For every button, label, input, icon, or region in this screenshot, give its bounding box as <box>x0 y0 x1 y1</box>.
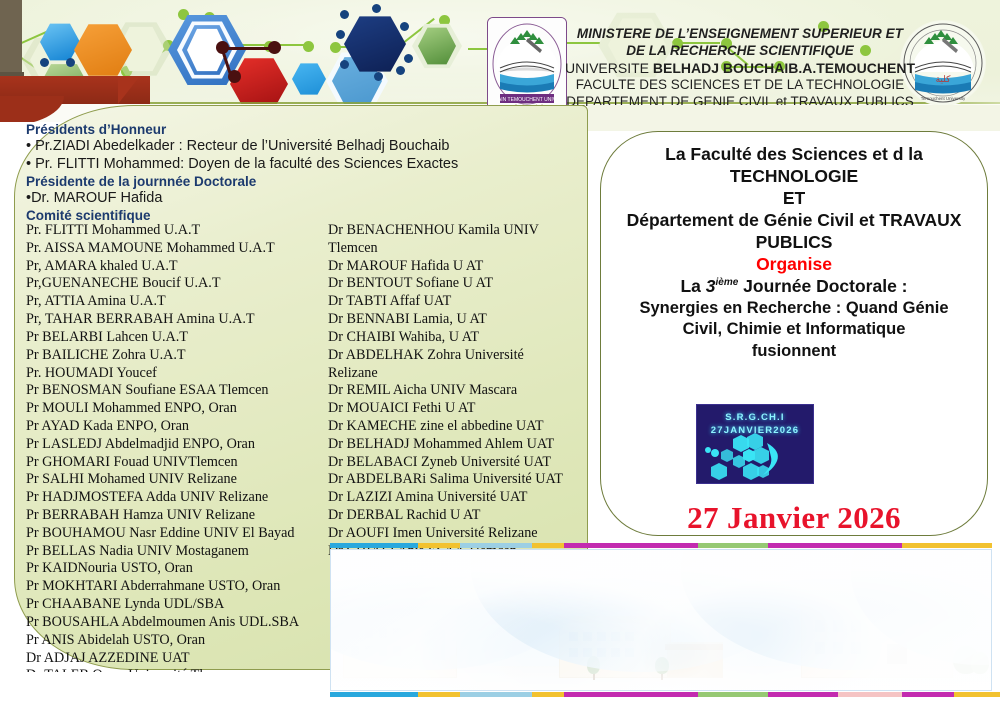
committee-member: Pr,GUENANECHE Boucif U.A.T <box>26 275 326 293</box>
stripe-segment <box>418 543 460 548</box>
committee-member: Pr BAILICHE Zohra U.A.T <box>26 347 326 365</box>
stripe-segment <box>330 543 418 548</box>
committee-member: Pr BOUHAMOU Nasr Eddine UNIV El Bayad <box>26 525 326 543</box>
committee-member: Pr HADJMOSTEFA Adda UNIV Relizane <box>26 489 326 507</box>
corner-brown-bar <box>0 0 22 82</box>
stripe-segment <box>532 543 564 548</box>
stripe-segment <box>564 543 698 548</box>
theme-line-1: Synergies en Recherche : Quand Génie <box>615 298 973 319</box>
committee-member: Dr LAZIZI Amina Université UAT <box>328 489 576 507</box>
stripe-segment <box>418 692 460 697</box>
event-title: La 3ième Journée Doctorale : <box>615 276 973 298</box>
committee-member: Dr BENNABI Lamia, U AT <box>328 311 576 329</box>
committee-member: Pr BENOSMAN Soufiane ESAA Tlemcen <box>26 382 326 400</box>
srgchi-molecule-badge: S.R.G.CH.I 27JANVIER2026 <box>696 404 814 484</box>
committee-member: Pr BELLAS Nadia UNIV Mostaganem <box>26 543 326 561</box>
committee-member: Pr. HOUMADI Youcef <box>26 365 326 383</box>
theme-line-3: fusionnent <box>615 341 973 362</box>
decorative-stripe-top <box>330 543 992 548</box>
stripe-segment <box>698 543 768 548</box>
stripe-segment <box>838 692 902 697</box>
committee-member: Pr ANIS Abidelah USTO, Oran <box>26 632 326 650</box>
committee-member: Dr MOUAICI Fethi U AT <box>328 400 576 418</box>
honour-presidents-list: • Pr.ZIADI Abedelkader : Recteur de l’Un… <box>26 138 546 173</box>
committee-member: Dr MAROUF Hafida U AT <box>328 258 576 276</box>
svg-text:Temouchent University: Temouchent University <box>921 96 966 101</box>
honour-president-item: • Pr. FLITTI Mohammed: Doyen de la facul… <box>26 156 546 173</box>
photo-vignette <box>331 550 991 690</box>
committee-member: Pr KAIDNouria USTO, Oran <box>26 560 326 578</box>
committee-member: Pr CHAABANE Lynda UDL/SBA <box>26 596 326 614</box>
university-name: BELHADJ BOUCHAIB.A.TEMOUCHENT <box>653 60 915 76</box>
committee-member: Pr, ATTIA Amina U.A.T <box>26 293 326 311</box>
stripe-segment <box>902 692 954 697</box>
committee-member: Dr KAMECHE zine el abbedine UAT <box>328 418 576 436</box>
doctoral-day-president-title: Présidente de la journnée Doctorale <box>26 174 546 189</box>
committee-member: Pr BELARBI Lahcen U.A.T <box>26 329 326 347</box>
header-right-fill <box>588 105 1000 131</box>
stripe-segment <box>460 543 532 548</box>
stripe-segment <box>532 692 564 697</box>
committee-member: Pr BERRABAH Hamza UNIV Relizane <box>26 507 326 525</box>
committee-member: Dr REMIL Aicha UNIV Mascara <box>328 382 576 400</box>
decorative-stripe-bottom <box>330 692 992 697</box>
committee-member: Dr CHAIBI Wahiba, U AT <box>328 329 576 347</box>
committee-member: Pr SALHI Mohamed UNIV Relizane <box>26 471 326 489</box>
doctoral-president-item: •Dr. MAROUF Hafida <box>26 190 546 207</box>
header-institution-text: MINISTERE DE L’ENSEIGNEMENT SUPERIEUR ET… <box>560 26 920 111</box>
committee-member: Pr BOUSAHLA Abdelmoumen Anis UDL.SBA <box>26 614 326 632</box>
committee-member: Dr TABTI Affaf UAT <box>328 293 576 311</box>
event-date: 27 Janvier 2026 <box>600 500 988 536</box>
honour-president-item: • Pr.ZIADI Abedelkader : Recteur de l’Un… <box>26 138 546 155</box>
university-prefix: UNIVERSITE <box>565 60 653 76</box>
announcement-line-2: TECHNOLOGIE <box>615 166 973 188</box>
organise-label: Organise <box>615 253 973 276</box>
committee-member: Dr AOUFI Imen Université Relizane <box>328 525 576 543</box>
campus-photo-strip <box>330 549 992 691</box>
committee-member: Pr, AMARA khaled U.A.T <box>26 258 326 276</box>
committee-member: Pr GHOMARI Fouad UNIVTlemcen <box>26 454 326 472</box>
bottom-left-filler <box>0 672 330 707</box>
stripe-segment <box>768 692 838 697</box>
stripe-segment <box>460 692 532 697</box>
committee-member: Dr ABDELBARi Salima Université UAT <box>328 471 576 489</box>
badge-hexagon-graphic <box>697 429 813 483</box>
corner-red-tip <box>118 76 140 104</box>
stripe-segment <box>330 692 418 697</box>
stripe-segment <box>954 692 1000 697</box>
committee-member: Dr BENTOUT Sofiane U AT <box>328 275 576 293</box>
committee-member: Dr DERBAL Rachid U AT <box>328 507 576 525</box>
university-line: UNIVERSITE BELHADJ BOUCHAIB.A.TEMOUCHENT <box>560 60 920 78</box>
committee-member: Dr BENACHENHOU Kamila UNIV Tlemcen <box>328 222 576 258</box>
committee-column-2: Dr BENACHENHOU Kamila UNIV TlemcenDr MAR… <box>328 222 576 560</box>
committee-member: Pr LASLEDJ Abdelmadjid ENPO, Oran <box>26 436 326 454</box>
stripe-segment <box>902 543 992 548</box>
logo-left-graphic: AIN TEMOUCHENT UNIV Belhadj Bouchaib <box>488 18 566 110</box>
committee-member: Dr ABDELHAK Zohra Université Relizane <box>328 347 576 383</box>
stripe-segment <box>768 543 902 548</box>
honour-presidents-title: Présidents d’Honneur <box>26 122 546 137</box>
ain-temouchent-university-logo: AIN TEMOUCHENT UNIV Belhadj Bouchaib <box>487 17 567 111</box>
theme-line-2: Civil, Chimie et Informatique <box>615 319 973 340</box>
committee-member: Pr, TAHAR BERRABAH Amina U.A.T <box>26 311 326 329</box>
committee-member: Pr AYAD Kada ENPO, Oran <box>26 418 326 436</box>
event-suffix: Journée Doctorale : <box>738 276 907 296</box>
committee-member: Pr. FLITTI Mohammed U.A.T <box>26 222 326 240</box>
svg-text:كلية: كلية <box>936 74 952 84</box>
ministry-line-2: DE LA RECHERCHE SCIENTIFIQUE <box>560 43 920 60</box>
committee-member: Pr MOULI Mohammed ENPO, Oran <box>26 400 326 418</box>
announcement-text: La Faculté des Sciences et d la TECHNOLO… <box>601 132 987 362</box>
committee-member: Pr. AISSA MAMOUNE Mohammed U.A.T <box>26 240 326 258</box>
announcement-line-4: Département de Génie Civil et TRAVAUX <box>615 210 973 232</box>
conference-poster: AIN TEMOUCHENT UNIV Belhadj Bouchaib كلي… <box>0 0 1000 707</box>
committee-column-1: Pr. FLITTI Mohammed U.A.TPr. AISSA MAMOU… <box>26 222 326 685</box>
doctoral-day-president-list: •Dr. MAROUF Hafida <box>26 190 546 207</box>
stripe-segment <box>698 692 768 697</box>
event-ordinal: ième <box>716 277 739 288</box>
committee-member: Dr BELHADJ Mohammed Ahlem UAT <box>328 436 576 454</box>
badge-line-1: S.R.G.CH.I <box>697 412 813 425</box>
announcement-line-5: PUBLICS <box>615 232 973 254</box>
committee-member: Dr BELABACI Zyneb Université UAT <box>328 454 576 472</box>
stripe-segment <box>564 692 698 697</box>
svg-text:AIN TEMOUCHENT UNIV: AIN TEMOUCHENT UNIV <box>498 97 557 103</box>
committee-member: Pr MOKHTARI Abderrahmane USTO, Oran <box>26 578 326 596</box>
committee-member: Dr ADJAJ AZZEDINE UAT <box>26 650 326 668</box>
event-number: 3 <box>706 276 716 296</box>
announcement-line-1: La Faculté des Sciences et d la <box>615 144 973 166</box>
announcement-line-3: ET <box>615 188 973 210</box>
ministry-line-1: MINISTERE DE L’ENSEIGNEMENT SUPERIEUR ET <box>560 26 920 43</box>
honour-section: Présidents d’Honneur • Pr.ZIADI Abedelka… <box>26 122 546 224</box>
faculty-line: FACULTE DES SCIENCES ET DE LA TECHNOLOGI… <box>560 77 920 94</box>
event-prefix: La <box>680 276 705 296</box>
